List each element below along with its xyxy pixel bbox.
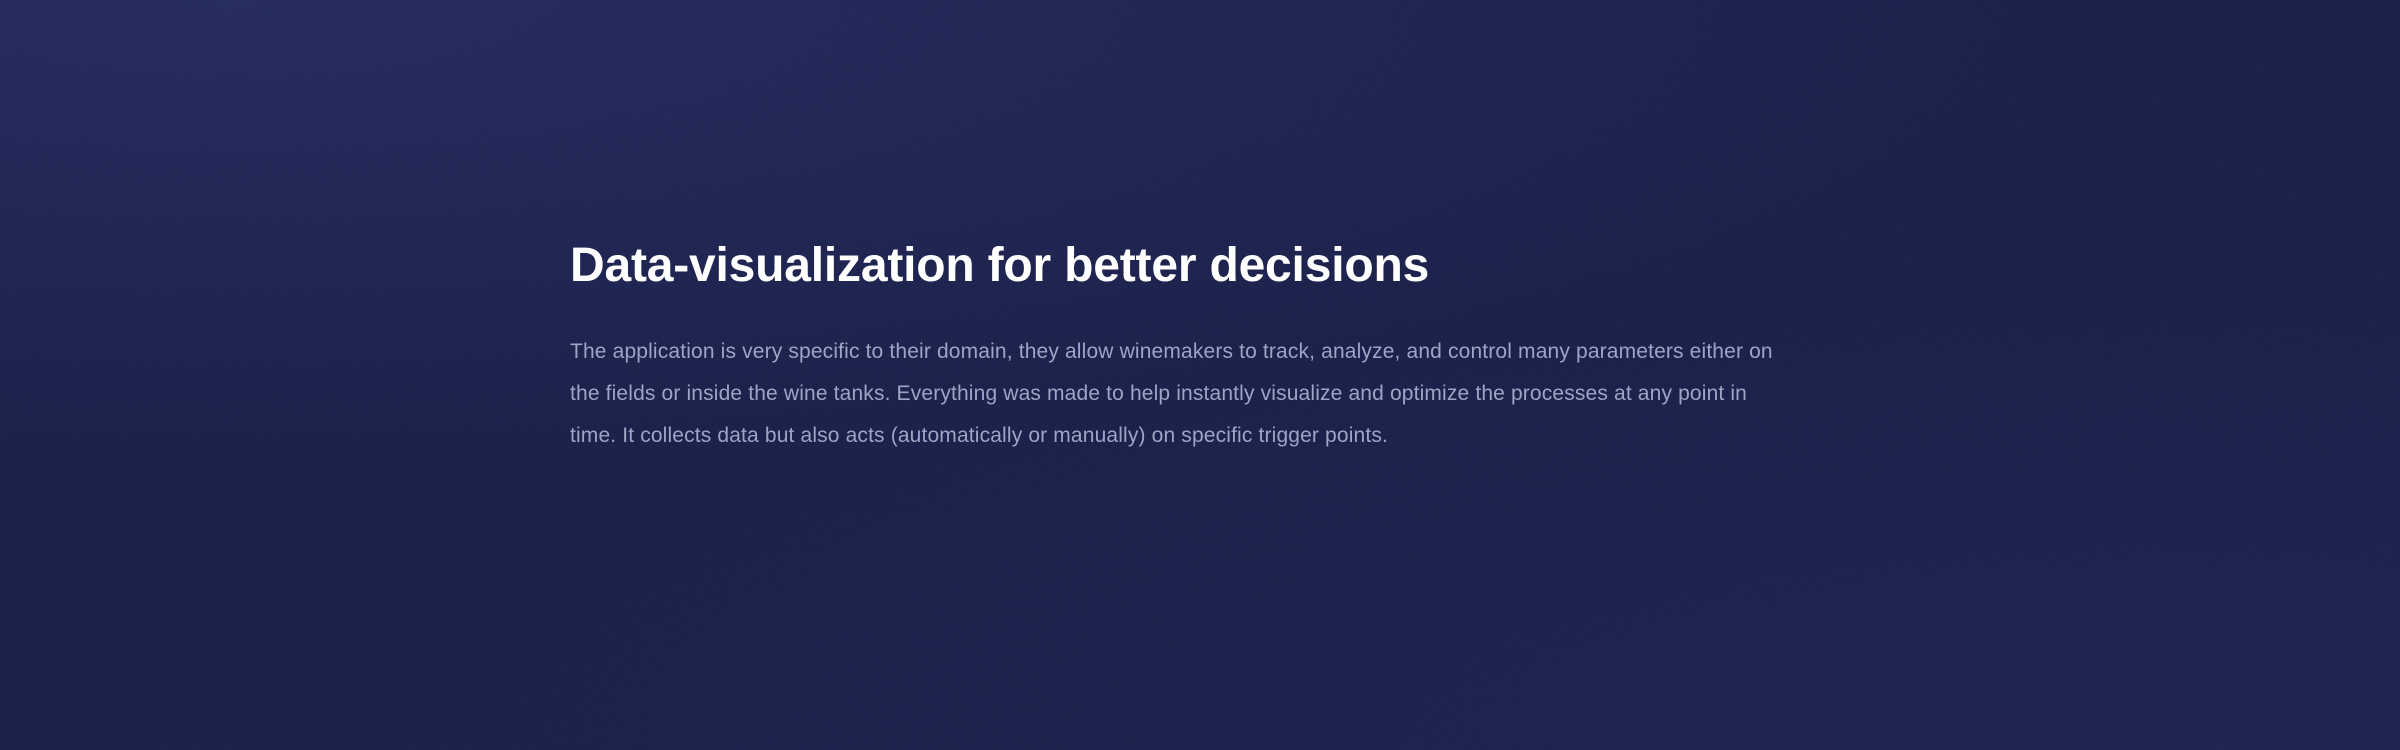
hero-description: The application is very specific to thei… (570, 295, 1785, 457)
hero-content-block: Data-visualization for better decisions … (570, 238, 1800, 457)
page-title: Data-visualization for better decisions (570, 238, 1800, 295)
data-visualization-hero-section: Data-visualization for better decisions … (0, 0, 2400, 750)
